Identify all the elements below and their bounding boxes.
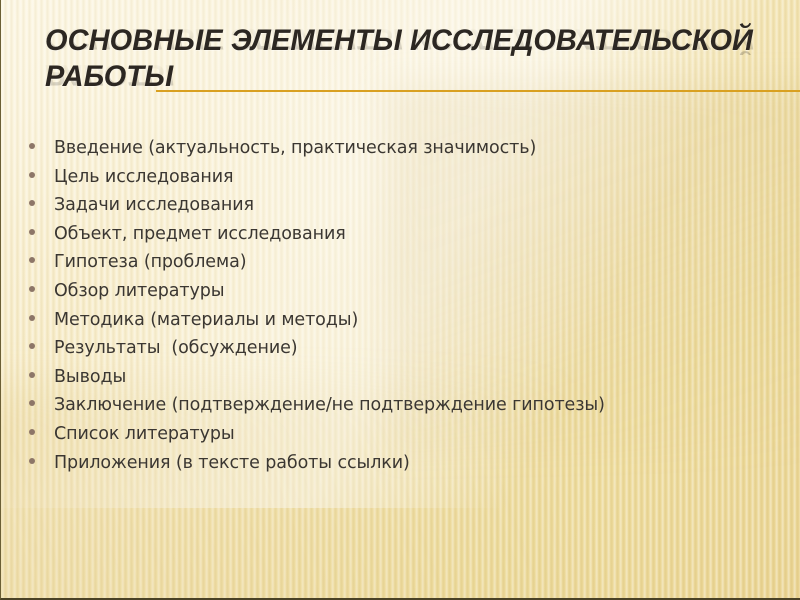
bullet-dot-icon: [29, 257, 35, 263]
list-item-label: Выводы: [54, 367, 126, 387]
bullet-dot-icon: [29, 229, 35, 235]
title-line-1-wrapper: ОСНОВНЫЕ ЭЛЕМЕНТЫ ИССЛЕДОВАТЕЛЬСКОЙ ОСНО…: [45, 24, 785, 60]
title-line-2: РАБОТЫ: [45, 60, 759, 93]
title-line-1: ОСНОВНЫЕ ЭЛЕМЕНТЫ ИССЛЕДОВАТЕЛЬСКОЙ: [45, 24, 759, 57]
list-item-label: Гипотеза (проблема): [54, 252, 246, 272]
list-item-label: Методика (материалы и методы): [54, 310, 358, 330]
bullet-dot-icon: [29, 343, 35, 349]
title-line-2-wrapper: РАБОТЫ РАБОТЫ: [45, 60, 785, 96]
bullet-dot-icon: [29, 315, 35, 321]
bullet-dot-icon: [29, 429, 35, 435]
list-item-label: Цель исследования: [54, 167, 233, 187]
list-item: Приложения (в тексте работы ссылки): [29, 453, 777, 482]
list-item: Список литературы: [29, 424, 777, 453]
bullet-dot-icon: [29, 172, 35, 178]
bullet-dot-icon: [29, 400, 35, 406]
list-item: Обзор литературы: [29, 281, 777, 310]
list-item: Цель исследования: [29, 167, 777, 196]
bullet-dot-icon: [29, 143, 35, 149]
list-item: Введение (актуальность, практическая зна…: [29, 138, 777, 167]
list-item: Объект, предмет исследования: [29, 224, 777, 253]
list-item: Заключение (подтверждение/не подтвержден…: [29, 395, 777, 424]
list-item: Результаты (обсуждение): [29, 338, 777, 367]
list-item-label: Приложения (в тексте работы ссылки): [54, 453, 410, 473]
bullet-dot-icon: [29, 286, 35, 292]
list-item-label: Список литературы: [54, 424, 235, 444]
list-item: Методика (материалы и методы): [29, 310, 777, 339]
list-item: Выводы: [29, 367, 777, 396]
list-item-label: Заключение (подтверждение/не подтвержден…: [54, 395, 605, 415]
slide-title: ОСНОВНЫЕ ЭЛЕМЕНТЫ ИССЛЕДОВАТЕЛЬСКОЙ ОСНО…: [45, 24, 785, 96]
list-item-label: Объект, предмет исследования: [54, 224, 346, 244]
list-item: Задачи исследования: [29, 195, 777, 224]
content-bullet-list: Введение (актуальность, практическая зна…: [29, 138, 777, 481]
list-item-label: Обзор литературы: [54, 281, 224, 301]
bullet-dot-icon: [29, 372, 35, 378]
list-item-label: Задачи исследования: [54, 195, 254, 215]
bullet-dot-icon: [29, 200, 35, 206]
list-item: Гипотеза (проблема): [29, 252, 777, 281]
bullet-dot-icon: [29, 458, 35, 464]
list-item-label: Введение (актуальность, практическая зна…: [54, 138, 536, 158]
list-item-label: Результаты (обсуждение): [54, 338, 297, 358]
presentation-slide: ОСНОВНЫЕ ЭЛЕМЕНТЫ ИССЛЕДОВАТЕЛЬСКОЙ ОСНО…: [0, 0, 800, 600]
